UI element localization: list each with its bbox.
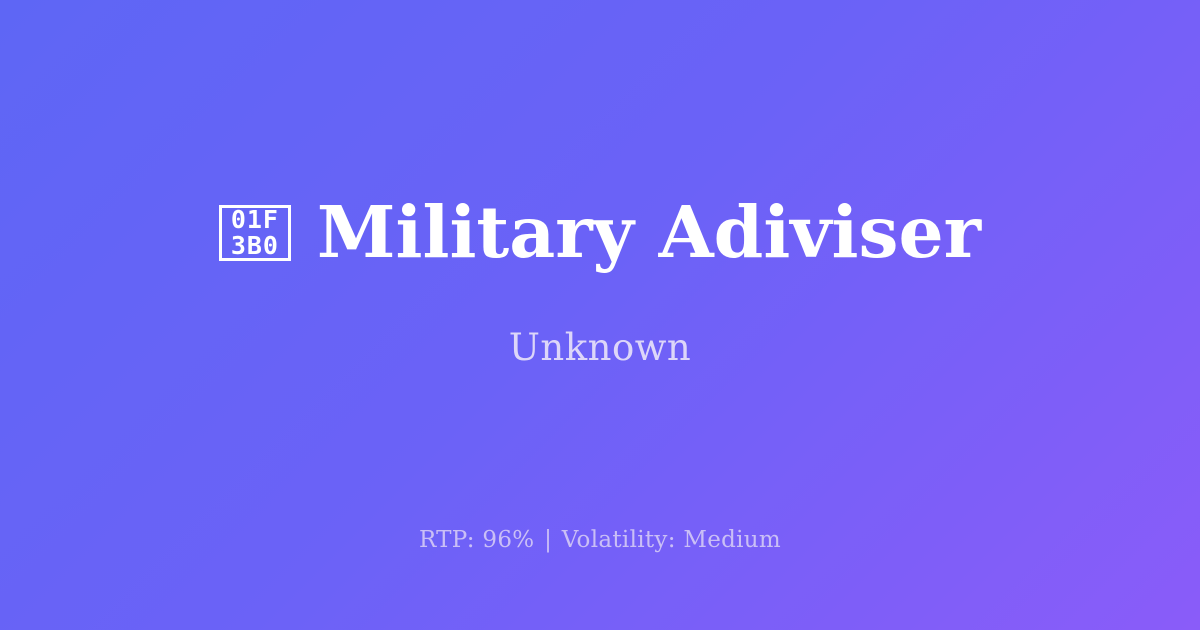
slot-machine-icon: 01F 3B0 [219,205,291,261]
title-row: 01F 3B0 Military Adiviser [0,195,1200,270]
tofu-codepoint-top: 01F [231,207,279,233]
og-preview-card: 01F 3B0 Military Adiviser Unknown RTP: 9… [0,0,1200,630]
tofu-codepoint-bottom: 3B0 [231,233,279,259]
game-provider-subtitle: Unknown [509,328,692,369]
volatility-label: Volatility: Medium [562,527,781,553]
meta-separator: | [542,527,554,553]
page-title: Military Adiviser [317,195,981,270]
game-meta-footer: RTP: 96% | Volatility: Medium [0,527,1200,553]
rtp-label: RTP: 96% [419,527,535,553]
